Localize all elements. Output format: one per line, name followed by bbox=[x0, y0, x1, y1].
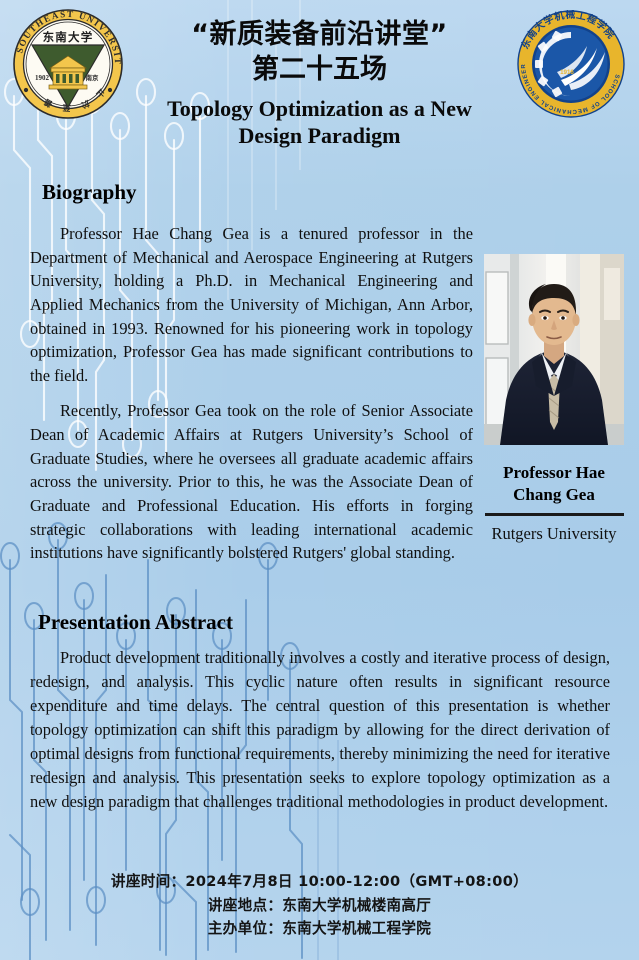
event-venue: 讲座地点：东南大学机械楼南高厅 bbox=[0, 894, 639, 918]
speaker-divider bbox=[485, 513, 624, 516]
abstract-paragraph: Product development traditionally involv… bbox=[30, 646, 610, 814]
southeast-university-seal: SOUTHEAST UNIVERSITY 止 於 至 善 东南大学 bbox=[12, 8, 124, 120]
poster-header: SOUTHEAST UNIVERSITY 止 於 至 善 东南大学 bbox=[0, 0, 639, 180]
speaker-card: Professor Hae Chang Gea Rutgers Universi… bbox=[484, 254, 624, 544]
biography-text: Professor Hae Chang Gea is a tenured pro… bbox=[30, 222, 473, 577]
speaker-name: Professor Hae Chang Gea bbox=[484, 462, 624, 506]
speaker-affiliation: Rutgers University bbox=[484, 524, 624, 544]
school-of-mechanical-engineering-seal: 东南大学机械工程学院 SCHOOL OF MECHANICAL ENGINEER… bbox=[517, 10, 625, 118]
series-title-cn: “新质装备前沿讲堂” bbox=[130, 18, 509, 53]
event-details-footer: 讲座时间：2024年7月8日 10:00-12:00（GMT+08:00） 讲座… bbox=[0, 870, 639, 941]
series-session-cn: 第二十五场 bbox=[130, 53, 509, 88]
biography-heading: Biography bbox=[42, 180, 137, 205]
event-host: 主办单位：东南大学机械工程学院 bbox=[0, 917, 639, 941]
lecture-poster: SOUTHEAST UNIVERSITY 止 於 至 善 东南大学 bbox=[0, 0, 639, 960]
event-time: 讲座时间：2024年7月8日 10:00-12:00（GMT+08:00） bbox=[0, 870, 639, 894]
abstract-heading: Presentation Abstract bbox=[38, 610, 233, 635]
biography-paragraph-1: Professor Hae Chang Gea is a tenured pro… bbox=[30, 222, 473, 387]
svg-text:1902: 1902 bbox=[35, 74, 50, 82]
svg-text:东南大学: 东南大学 bbox=[43, 30, 94, 44]
svg-text:1916: 1916 bbox=[560, 69, 574, 76]
talk-title: Topology Optimization as a New Design Pa… bbox=[130, 96, 509, 150]
speaker-photo bbox=[484, 254, 624, 445]
biography-paragraph-2: Recently, Professor Gea took on the role… bbox=[30, 399, 473, 564]
title-block: “新质装备前沿讲堂” 第二十五场 Topology Optimization a… bbox=[130, 18, 509, 150]
talk-title-line2: Design Paradigm bbox=[130, 123, 509, 150]
talk-title-line1: Topology Optimization as a New bbox=[130, 96, 509, 123]
abstract-text: Product development traditionally involv… bbox=[30, 646, 610, 814]
svg-text:南京: 南京 bbox=[86, 73, 99, 82]
